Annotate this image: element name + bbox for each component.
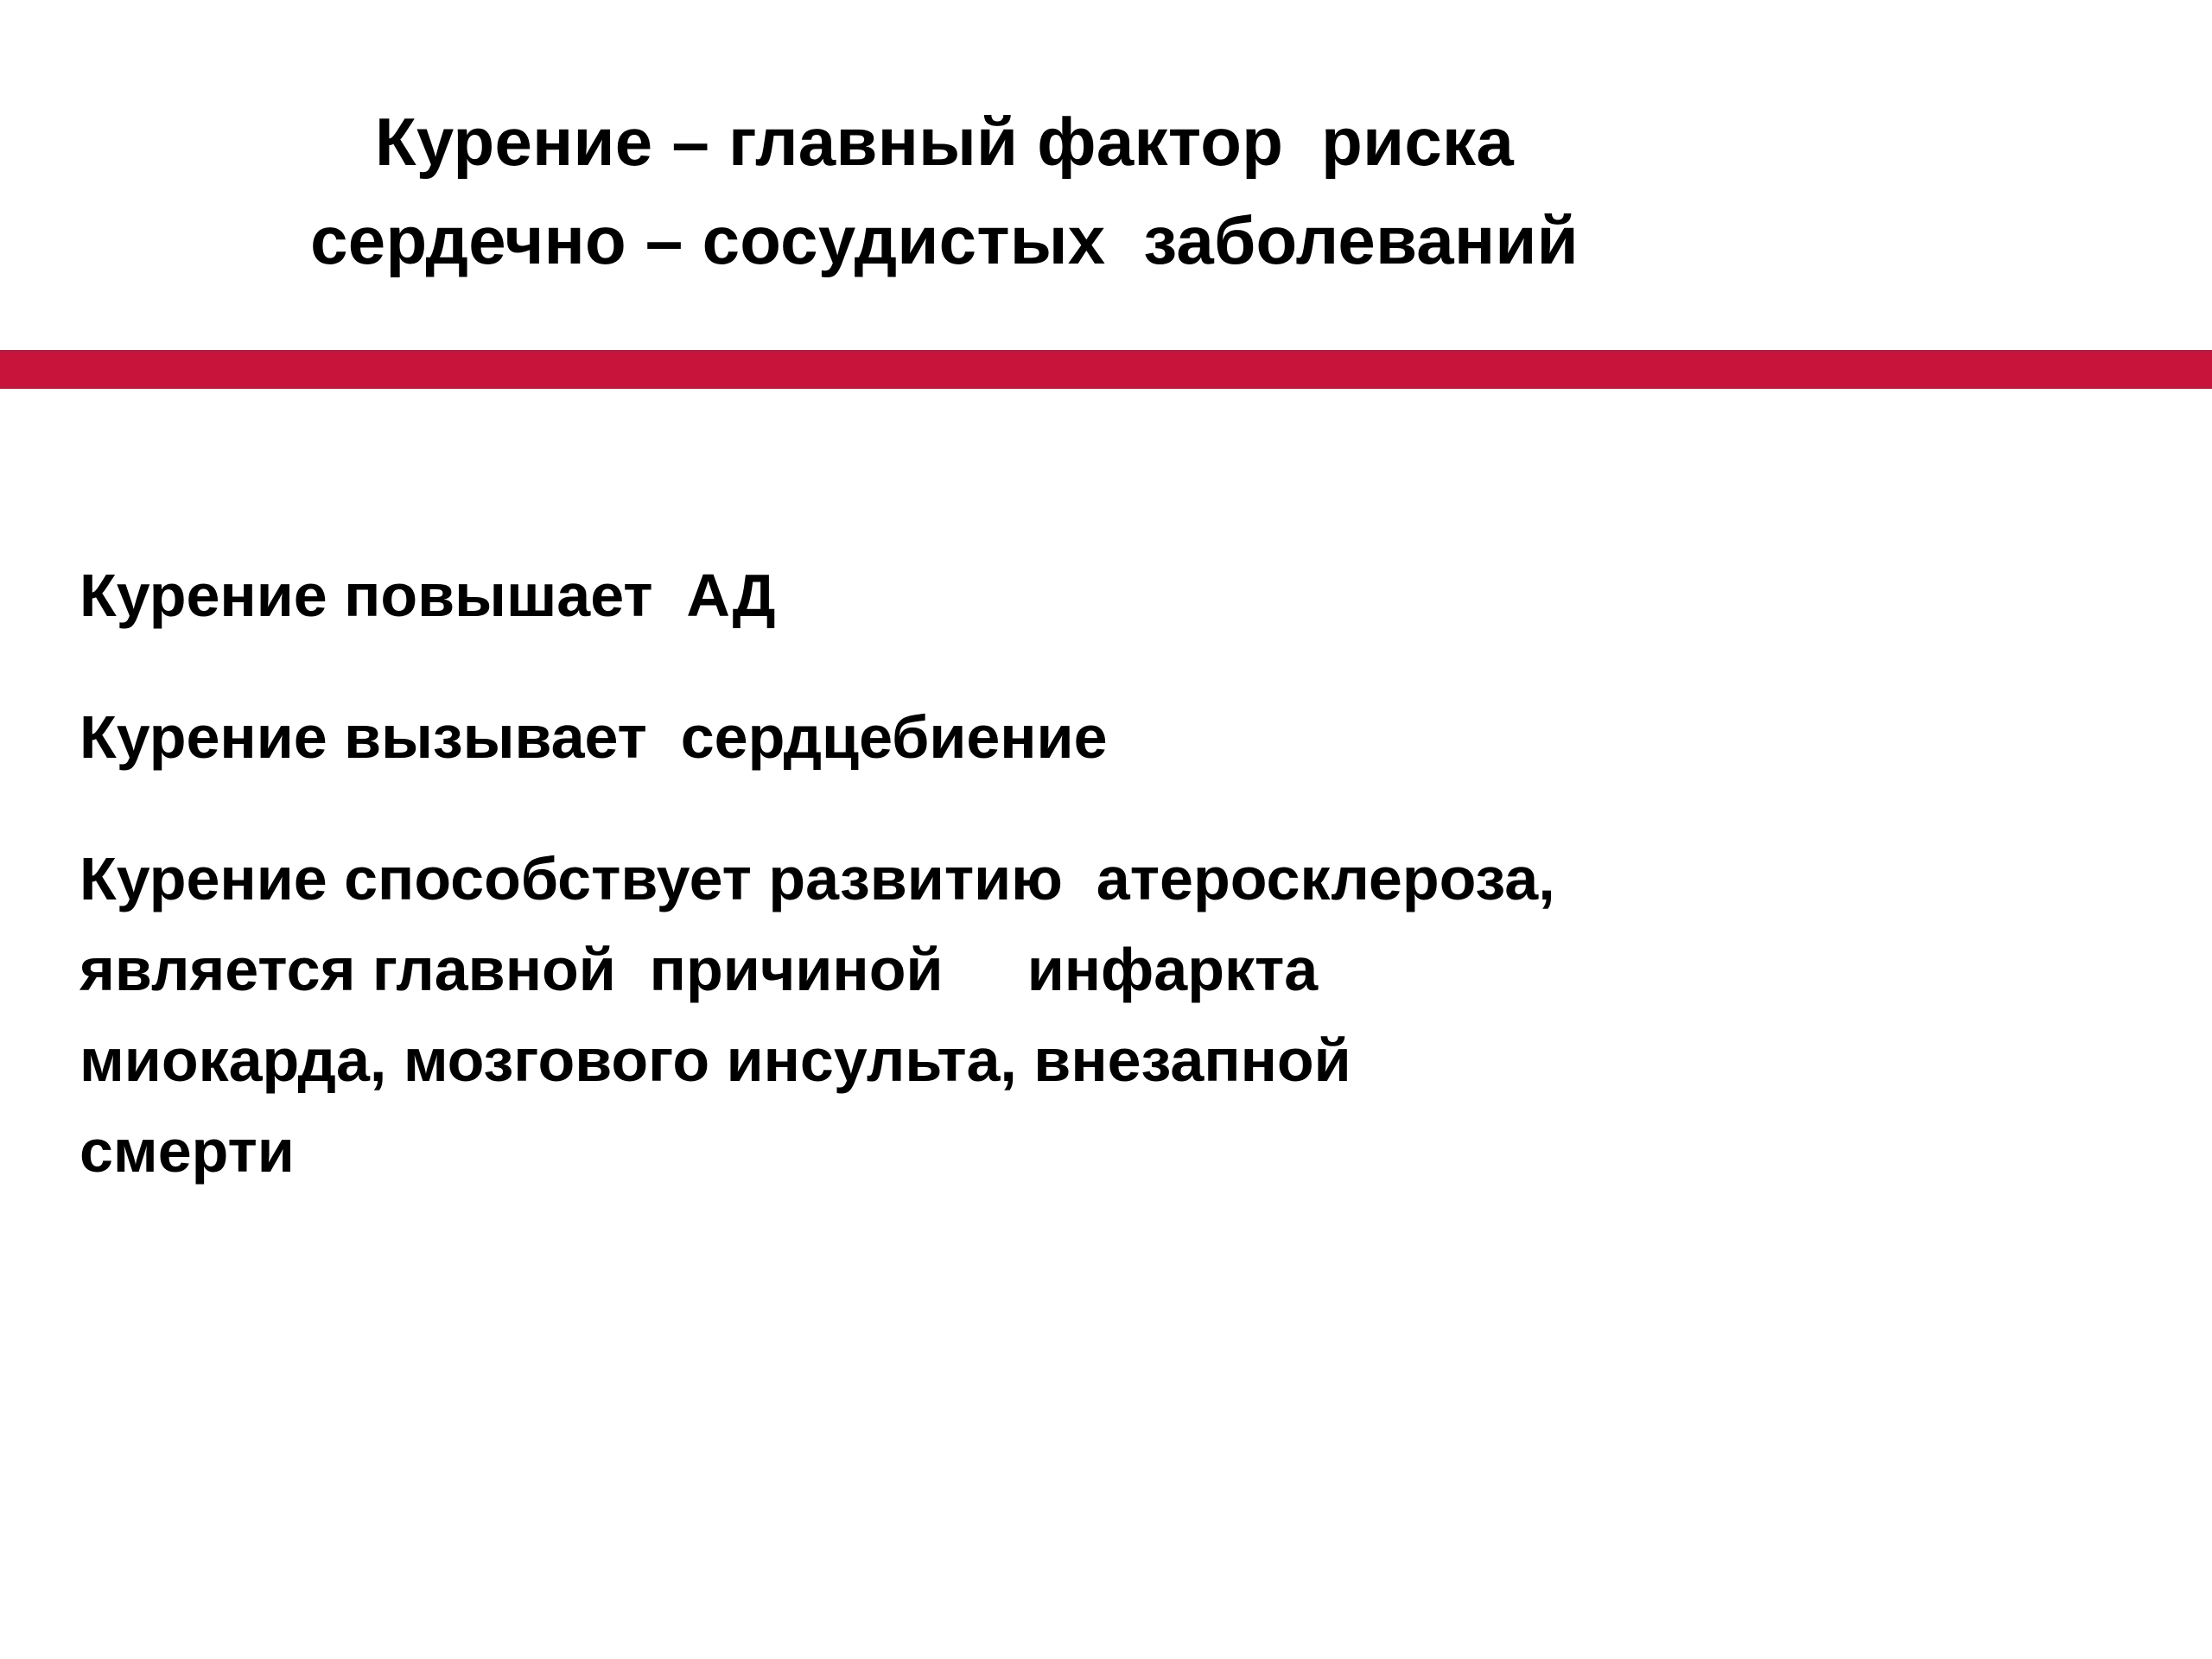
body-paragraph-1: Курение повышает АД [79,550,2101,641]
slide-canvas: Курение – главный фактор риска сердечно … [0,0,2212,1659]
body-paragraph-3-line-4: смерти [79,1117,295,1185]
title-line-2: сердечно – сосудистых заболеваний [0,192,1889,290]
red-divider-bar [0,350,2212,389]
body-paragraph-3: Курение способствует развитию атеросклер… [79,834,2101,1197]
body-paragraph-3-line-3: миокарда, мозгового инсульта, внезапной [79,1027,1351,1094]
title-line-1: Курение – главный фактор риска [0,93,1889,192]
slide-body: Курение повышает АД Курение вызывает сер… [79,550,2101,1197]
body-paragraph-3-line-2: является главной причиной инфаркта [79,936,1318,1003]
slide-title: Курение – главный фактор риска сердечно … [0,93,1889,290]
body-paragraph-3-line-1: Курение способствует развитию атеросклер… [79,845,1555,912]
body-paragraph-2: Курение вызывает сердцебиение [79,691,2101,783]
